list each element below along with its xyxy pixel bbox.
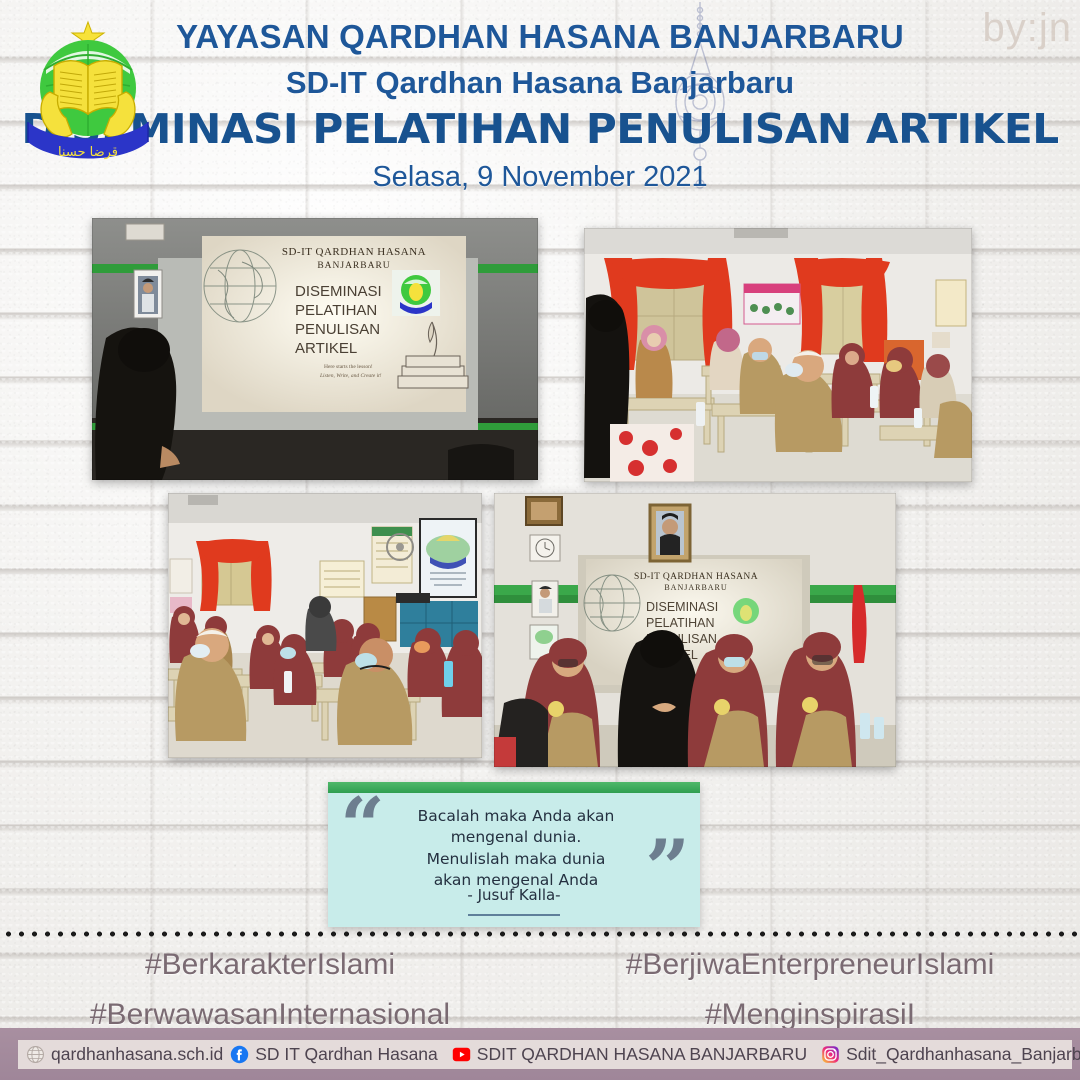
- quote-open-mark: “: [340, 788, 385, 866]
- footer-item-website[interactable]: qardhanhasana.sch.id: [26, 1044, 223, 1065]
- footer-item-facebook[interactable]: SD IT Qardhan Hasana: [230, 1044, 438, 1065]
- footer-website-label: qardhanhasana.sch.id: [51, 1044, 223, 1065]
- quote-author: - Jusuf Kalla-: [328, 886, 700, 904]
- poster-header: YAYASAN QARDHAN HASANA BANJARBARU SD-IT …: [0, 0, 1080, 194]
- footer-youtube-label: SDIT QARDHAN HASANA BANJARBARU: [477, 1044, 807, 1065]
- svg-text:DISEMINASI: DISEMINASI: [646, 600, 718, 614]
- svg-text:ARTIKEL: ARTIKEL: [295, 340, 357, 357]
- instagram-icon: [821, 1045, 840, 1064]
- photo-group-in-front-of-screen: SD-IT QARDHAN HASANA BANJARBARU DISEMINA…: [494, 493, 896, 767]
- event-date: Selasa, 9 November 2021: [0, 161, 1080, 194]
- svg-text:SD-IT QARDHAN HASANA: SD-IT QARDHAN HASANA: [634, 572, 758, 582]
- globe-icon: [26, 1045, 45, 1064]
- photo-classroom-participants-left: [168, 493, 482, 758]
- poster-canvas: by:jn: [0, 0, 1080, 1080]
- footer-item-instagram[interactable]: Sdit_Qardhanhasana_Banjarbaru: [821, 1044, 1080, 1065]
- watermark-text: by:jn: [983, 6, 1073, 51]
- svg-text:DISEMINASI: DISEMINASI: [295, 283, 382, 300]
- photo-projector-slide: SD-IT QARDHAN HASANA BANJARBARU DISEMINA…: [92, 218, 538, 480]
- svg-text:Here starts the lesson!: Here starts the lesson!: [324, 364, 373, 370]
- youtube-icon: [452, 1045, 471, 1064]
- svg-text:BANJARBARU: BANJARBARU: [317, 261, 390, 271]
- hashtag-3: #BerwawasanInternasional: [90, 998, 450, 1031]
- qardhan-hasana-school-logo: قرضا حسنا: [24, 18, 152, 173]
- footer-instagram-label: Sdit_Qardhanhasana_Banjarbaru: [846, 1044, 1080, 1065]
- footer-bar: qardhanhasana.sch.id SD IT Qardhan Hasan…: [0, 1028, 1080, 1080]
- footer-item-youtube[interactable]: SDIT QARDHAN HASANA BANJARBARU: [452, 1044, 807, 1065]
- svg-text:PENULISAN: PENULISAN: [295, 321, 380, 338]
- svg-text:BANJARBARU: BANJARBARU: [664, 583, 727, 592]
- hashtag-1: #BerkarakterIslami: [145, 948, 395, 981]
- quote-underline: [468, 914, 560, 916]
- footer-facebook-label: SD IT Qardhan Hasana: [255, 1044, 438, 1065]
- svg-text:Listen, Write, and Create it!: Listen, Write, and Create it!: [319, 373, 382, 379]
- organization-title: YAYASAN QARDHAN HASANA BANJARBARU: [0, 18, 1080, 56]
- logo-ribbon-text: قرضا حسنا: [58, 145, 118, 160]
- dotted-divider: [0, 929, 1080, 939]
- event-title: DISEMINASI PELATIHAN PENULISAN ARTIKEL: [0, 105, 1080, 153]
- school-name: SD-IT Qardhan Hasana Banjarbaru: [0, 65, 1080, 101]
- svg-text:PELATIHAN: PELATIHAN: [295, 302, 377, 319]
- photo-classroom-participants-right: [584, 228, 972, 482]
- hashtag-block: #BerkarakterIslami #BerjiwaEnterpreneurI…: [0, 940, 1080, 1040]
- hashtag-2: #BerjiwaEnterpreneurIslami: [626, 948, 995, 981]
- quote-text: Bacalah maka Anda akan mengenal dunia. M…: [410, 806, 622, 892]
- svg-text:SD-IT QARDHAN HASANA: SD-IT QARDHAN HASANA: [282, 246, 426, 258]
- facebook-icon: [230, 1045, 249, 1064]
- footer-contact-strip: qardhanhasana.sch.id SD IT Qardhan Hasan…: [18, 1040, 1072, 1069]
- quote-card: “ ” Bacalah maka Anda akan mengenal duni…: [328, 782, 700, 927]
- svg-text:PELATIHAN: PELATIHAN: [646, 616, 715, 630]
- hashtag-4: #MenginspirasiI: [705, 998, 915, 1031]
